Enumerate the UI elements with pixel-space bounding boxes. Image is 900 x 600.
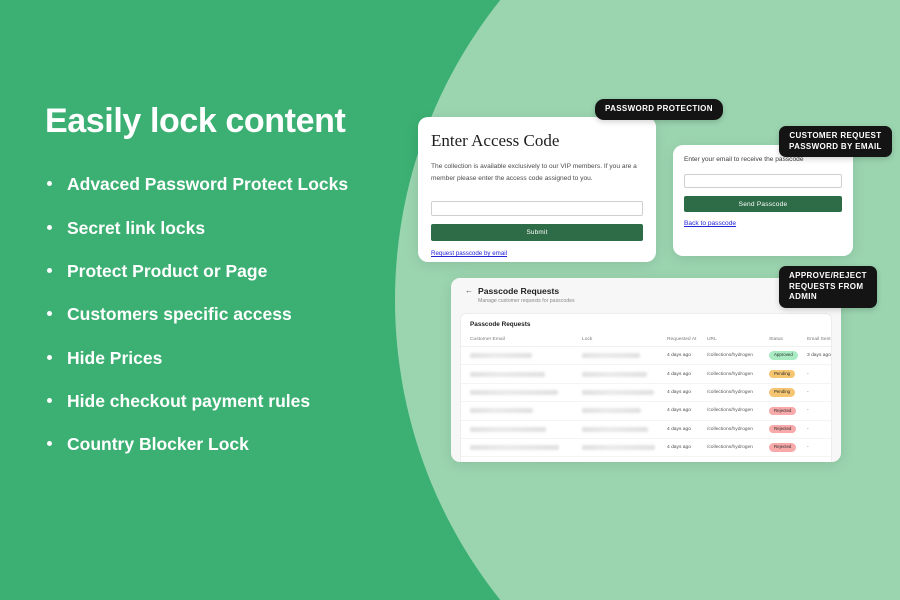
feature-list: Advaced Password Protect LocksSecret lin… xyxy=(45,174,425,455)
cell-customer-email xyxy=(461,438,582,456)
cell-url: /collections/hydrogen xyxy=(707,420,769,438)
table-row[interactable]: 4 days ago/collections/hydrogenApproved3… xyxy=(461,347,832,365)
cell-email-sent-at: - xyxy=(807,383,832,401)
feature-label: Advaced Password Protect Locks xyxy=(67,174,348,194)
feature-label: Hide Prices xyxy=(67,348,162,368)
promo-banner: Easily lock content Advaced Password Pro… xyxy=(0,0,900,600)
email-field[interactable] xyxy=(684,174,842,188)
requests-table-card: Passcode Requests Customer Email Lock Re… xyxy=(460,313,832,462)
redacted-email xyxy=(470,353,532,358)
cell-url: /collections/hydrogen xyxy=(707,457,769,462)
send-passcode-button[interactable]: Send Passcode xyxy=(684,196,842,212)
feature-label: Country Blocker Lock xyxy=(67,434,249,454)
cell-email-sent-at: - xyxy=(807,365,832,383)
submit-button[interactable]: Submit xyxy=(431,224,643,241)
cell-status: Rejected xyxy=(769,420,807,438)
cell-requested-at: 4 days ago xyxy=(667,420,707,438)
cell-email-sent-at: - xyxy=(807,402,832,420)
redacted-lock xyxy=(582,408,641,413)
cell-customer-email xyxy=(461,383,582,401)
bullet-icon xyxy=(47,268,52,273)
tag-line: REQUESTS FROM xyxy=(789,282,867,293)
cell-status: Approved xyxy=(769,457,807,462)
cell-lock xyxy=(582,383,667,401)
cell-lock xyxy=(582,365,667,383)
tag-line: ADMIN xyxy=(789,292,867,303)
feature-item: Secret link locks xyxy=(45,218,425,239)
tag-customer-request: CUSTOMER REQUESTPASSWORD BY EMAIL xyxy=(779,126,892,157)
cell-lock xyxy=(582,347,667,365)
table-header-row: Customer Email Lock Requested At URL Sta… xyxy=(461,334,832,347)
feature-label: Secret link locks xyxy=(67,218,205,238)
feature-item: Hide Prices xyxy=(45,348,425,369)
status-badge: Rejected xyxy=(769,443,796,452)
table-row[interactable]: 4 days ago/collections/hydrogenPending-•… xyxy=(461,383,832,401)
cell-requested-at: 4 days ago xyxy=(667,383,707,401)
cell-customer-email xyxy=(461,365,582,383)
cell-requested-at: 4 days ago xyxy=(667,347,707,365)
cell-url: /collections/hydrogen xyxy=(707,365,769,383)
cell-customer-email xyxy=(461,402,582,420)
tag-line: CUSTOMER REQUEST xyxy=(789,131,882,142)
cell-requested-at: 4 days ago xyxy=(667,438,707,456)
redacted-lock xyxy=(582,390,654,395)
redacted-email xyxy=(470,372,545,377)
cell-url: /collections/hydrogen xyxy=(707,402,769,420)
redacted-email xyxy=(470,445,559,450)
cell-status: Pending xyxy=(769,365,807,383)
cell-requested-at: 4 days ago xyxy=(667,365,707,383)
requests-table-head: Customer Email Lock Requested At URL Sta… xyxy=(461,334,832,347)
bullet-icon xyxy=(47,225,52,230)
cell-url: /collections/hydrogen xyxy=(707,347,769,365)
cell-customer-email xyxy=(461,457,582,462)
table-row[interactable]: 4 days ago/collections/hydrogenPending-•… xyxy=(461,365,832,383)
requests-table: Customer Email Lock Requested At URL Sta… xyxy=(461,334,832,462)
feature-label: Customers specific access xyxy=(67,304,292,324)
cell-url: /collections/hydrogen xyxy=(707,383,769,401)
cell-requested-at: 4 days ago xyxy=(667,457,707,462)
redacted-lock xyxy=(582,353,640,358)
cell-url: /collections/hydrogen xyxy=(707,438,769,456)
status-badge: Pending xyxy=(769,388,795,397)
bullet-icon xyxy=(47,311,52,316)
tag-line: APPROVE/REJECT xyxy=(789,271,867,282)
table-row[interactable]: 4 days ago/collections/hydrogenRejected-… xyxy=(461,420,832,438)
col-status: Status xyxy=(769,334,807,347)
redacted-email xyxy=(470,408,533,413)
feature-label: Protect Product or Page xyxy=(67,261,267,281)
request-passcode-card: Enter your email to receive the passcode… xyxy=(673,145,853,256)
redacted-lock xyxy=(582,427,648,432)
table-row[interactable]: 4 days ago/collections/hydrogenRejected-… xyxy=(461,438,832,456)
redacted-email xyxy=(470,427,546,432)
tag-line: PASSWORD BY EMAIL xyxy=(789,142,882,153)
tag-approve-reject: APPROVE/REJECTREQUESTS FROMADMIN xyxy=(779,266,877,308)
cell-status: Rejected xyxy=(769,402,807,420)
redacted-lock xyxy=(582,372,647,377)
access-card-description: The collection is available exclusively … xyxy=(431,161,643,184)
cell-requested-at: 4 days ago xyxy=(667,402,707,420)
col-customer-email: Customer Email xyxy=(461,334,582,347)
feature-item: Customers specific access xyxy=(45,304,425,325)
feature-item: Hide checkout payment rules xyxy=(45,391,425,412)
access-card-title: Enter Access Code xyxy=(431,131,643,151)
enter-access-code-card: Enter Access Code The collection is avai… xyxy=(418,117,656,262)
cell-status: Approved xyxy=(769,347,807,365)
access-code-input[interactable] xyxy=(431,201,643,216)
cell-lock xyxy=(582,457,667,462)
col-requested-at: Requested At xyxy=(667,334,707,347)
redacted-email xyxy=(470,390,558,395)
tag-password-protection: PASSWORD PROTECTION xyxy=(595,99,723,120)
cell-email-sent-at: 3 days ago xyxy=(807,347,832,365)
status-badge: Approved xyxy=(769,351,798,360)
feature-label: Hide checkout payment rules xyxy=(67,391,310,411)
bullet-icon xyxy=(47,441,52,446)
cell-lock xyxy=(582,420,667,438)
request-passcode-link[interactable]: Request passcode by email xyxy=(431,250,507,257)
status-badge: Rejected xyxy=(769,407,796,416)
cell-customer-email xyxy=(461,420,582,438)
bullet-icon xyxy=(47,355,52,360)
col-lock: Lock xyxy=(582,334,667,347)
cell-email-sent-at: - xyxy=(807,438,832,456)
bullet-icon xyxy=(47,181,52,186)
cell-customer-email xyxy=(461,347,582,365)
feature-item: Advaced Password Protect Locks xyxy=(45,174,425,195)
bullet-icon xyxy=(47,398,52,403)
cell-status: Rejected xyxy=(769,438,807,456)
cell-email-sent-at: 4 days ago xyxy=(807,457,832,462)
cell-lock xyxy=(582,402,667,420)
col-email-sent-at: Email Sent At xyxy=(807,334,832,347)
col-url: URL xyxy=(707,334,769,347)
requests-table-body: 4 days ago/collections/hydrogenApproved3… xyxy=(461,347,832,463)
hero-copy: Easily lock content Advaced Password Pro… xyxy=(45,103,425,478)
cell-lock xyxy=(582,438,667,456)
email-card-label: Enter your email to receive the passcode xyxy=(684,156,842,163)
feature-item: Country Blocker Lock xyxy=(45,434,425,455)
page-title: Easily lock content xyxy=(45,103,425,140)
requests-table-title: Passcode Requests xyxy=(461,314,831,334)
cell-email-sent-at: - xyxy=(807,420,832,438)
table-row[interactable]: 4 days ago/collections/hydrogenRejected-… xyxy=(461,402,832,420)
table-row[interactable]: 4 days ago/collections/hydrogenApproved4… xyxy=(461,457,832,462)
admin-panel-title: Passcode Requests xyxy=(478,286,559,296)
feature-item: Protect Product or Page xyxy=(45,261,425,282)
cell-status: Pending xyxy=(769,383,807,401)
status-badge: Rejected xyxy=(769,425,796,434)
back-to-passcode-link[interactable]: Back to passcode xyxy=(684,220,736,227)
redacted-lock xyxy=(582,445,655,450)
status-badge: Pending xyxy=(769,370,795,379)
back-arrow-icon[interactable]: ← xyxy=(465,287,473,295)
